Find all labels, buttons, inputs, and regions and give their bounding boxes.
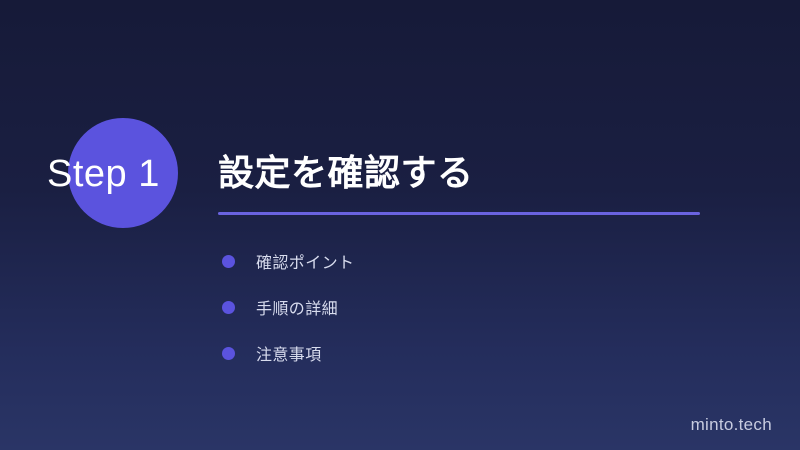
bullet-dot-icon — [222, 255, 235, 268]
presentation-slide: Step 1 設定を確認する 確認ポイント 手順の詳細 注意事項 minto.t… — [0, 0, 800, 450]
bullet-list: 確認ポイント 手順の詳細 注意事項 — [218, 238, 698, 376]
list-item-label: 手順の詳細 — [256, 295, 338, 319]
list-item: 注意事項 — [218, 330, 698, 376]
title-divider — [218, 212, 700, 215]
bullet-dot-icon — [222, 301, 235, 314]
list-item: 確認ポイント — [218, 238, 698, 284]
slide-title: 設定を確認する — [218, 150, 474, 196]
list-item-label: 確認ポイント — [256, 249, 354, 273]
list-item: 手順の詳細 — [218, 284, 698, 330]
bullet-dot-icon — [222, 347, 235, 360]
list-item-label: 注意事項 — [256, 341, 322, 365]
footer-brand-label: minto.tech — [691, 415, 772, 435]
step-number-label: Step 1 — [47, 152, 160, 196]
